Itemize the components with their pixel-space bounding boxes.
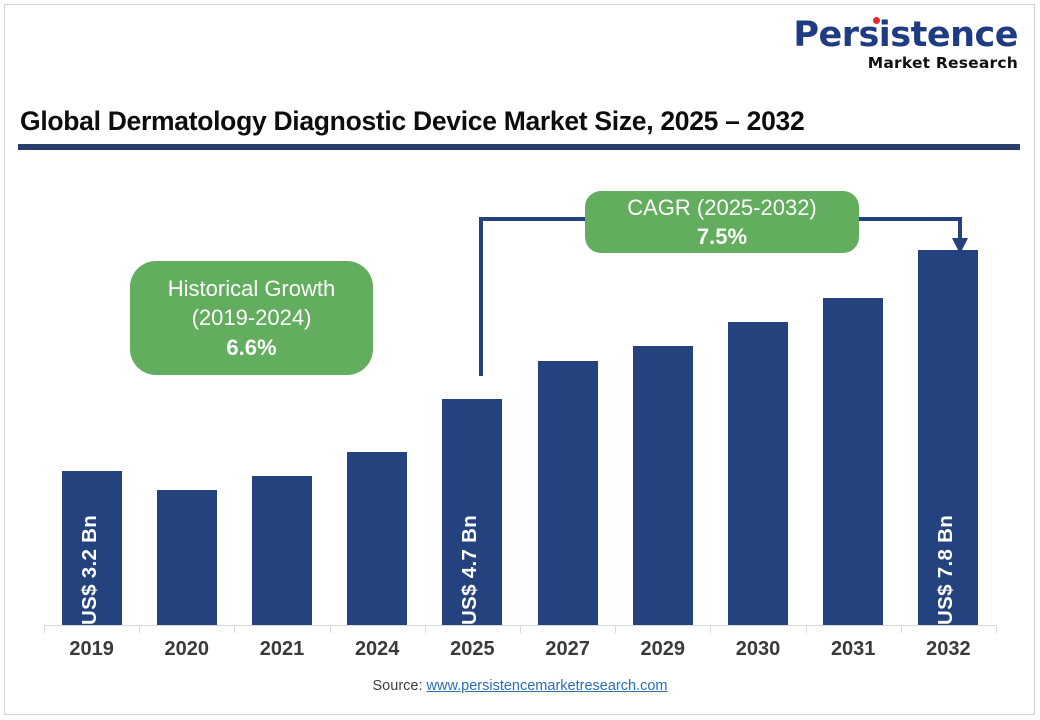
x-tick-2025: 2025 <box>425 638 520 661</box>
x-tick-2031: 2031 <box>806 638 901 661</box>
bar-2027 <box>538 361 598 625</box>
axis-tick-mark <box>710 625 711 633</box>
axis-tick-mark <box>615 625 616 633</box>
cagr-value: 7.5% <box>697 222 747 251</box>
axis-tick-mark <box>139 625 140 633</box>
axis-tick-mark <box>330 625 331 633</box>
source-note: Source: www.persistencemarketresearch.co… <box>0 678 1040 694</box>
axis-tick-mark <box>996 625 997 633</box>
x-tick-2027: 2027 <box>520 638 615 661</box>
historical-growth-value: 6.6% <box>226 333 276 362</box>
historical-growth-callout: Historical Growth (2019-2024) 6.6% <box>130 261 373 375</box>
x-tick-2032: 2032 <box>901 638 996 661</box>
bar-value-label-2032: US$ 7.8 Bn <box>934 515 958 625</box>
x-tick-2030: 2030 <box>710 638 805 661</box>
bar-value-label-2025: US$ 4.7 Bn <box>458 515 482 625</box>
source-prefix: Source: <box>373 678 427 694</box>
bar-2030 <box>728 322 788 625</box>
cagr-line1: CAGR (2025-2032) <box>627 193 817 222</box>
axis-tick-mark <box>806 625 807 633</box>
axis-tick-mark <box>234 625 235 633</box>
x-tick-2019: 2019 <box>44 638 139 661</box>
historical-growth-line2: (2019-2024) <box>192 303 312 332</box>
bar-value-label-2019: US$ 3.2 Bn <box>78 515 102 625</box>
bar-2021 <box>252 476 312 625</box>
x-tick-2021: 2021 <box>234 638 329 661</box>
bar-2024 <box>347 452 407 625</box>
bar-2020 <box>157 490 217 625</box>
x-tick-2020: 2020 <box>139 638 234 661</box>
bar-2029 <box>633 346 693 625</box>
x-tick-2029: 2029 <box>615 638 710 661</box>
chart-page: Persistence Market Research Global Derma… <box>0 0 1040 720</box>
bar-2031 <box>823 298 883 625</box>
axis-tick-mark <box>901 625 902 633</box>
x-tick-2024: 2024 <box>330 638 425 661</box>
axis-tick-mark <box>520 625 521 633</box>
axis-tick-mark <box>425 625 426 633</box>
cagr-callout: CAGR (2025-2032) 7.5% <box>585 191 859 253</box>
source-link[interactable]: www.persistencemarketresearch.com <box>427 678 668 694</box>
historical-growth-line1: Historical Growth <box>168 274 335 303</box>
axis-tick-mark <box>44 625 45 633</box>
